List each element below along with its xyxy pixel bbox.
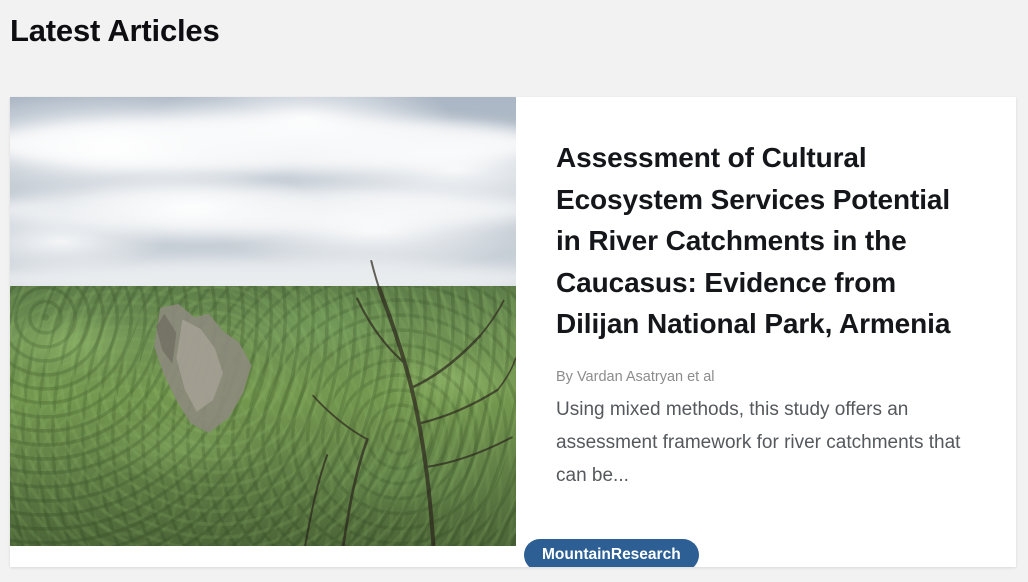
page-title: Latest Articles xyxy=(10,8,220,54)
article-thumbnail[interactable] xyxy=(10,97,516,546)
article-excerpt: Using mixed methods, this study offers a… xyxy=(556,393,966,492)
cloud-band xyxy=(10,187,516,233)
status-badge[interactable]: MountainResearch xyxy=(524,539,699,567)
latest-articles-page: Latest Articles xyxy=(0,0,1028,582)
article-content: Assessment of Cultural Ecosystem Service… xyxy=(516,97,1016,567)
rock-outcrop xyxy=(142,304,263,439)
article-card[interactable]: Assessment of Cultural Ecosystem Service… xyxy=(10,97,1016,567)
cloud-band xyxy=(10,115,516,173)
article-title[interactable]: Assessment of Cultural Ecosystem Service… xyxy=(556,137,966,345)
bare-branches xyxy=(283,259,516,546)
article-byline: By Vardan Asatryan et al xyxy=(556,367,970,387)
